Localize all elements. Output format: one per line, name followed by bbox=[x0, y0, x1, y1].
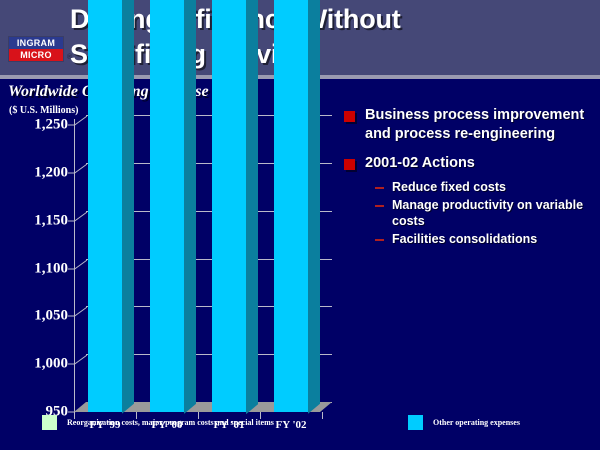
chart-legend: Reorganization costs, major-program cost… bbox=[0, 410, 600, 440]
legend-item: Reorganization costs, major-program cost… bbox=[42, 415, 274, 430]
logo-top-text: INGRAM bbox=[9, 37, 63, 49]
bar-segment-side bbox=[246, 0, 259, 414]
bullet-text: Business process improvement and process… bbox=[365, 106, 596, 144]
sub-bullet-dash-icon bbox=[375, 239, 384, 241]
bar-segment-side bbox=[184, 0, 197, 414]
bullet-marker-icon bbox=[344, 159, 355, 170]
sub-bullet-dash-icon bbox=[375, 205, 384, 207]
slide-title-line-2: Sacrificing Service bbox=[70, 37, 590, 72]
ingram-micro-logo: INGRAM MICRO bbox=[8, 36, 64, 62]
y-tick-mark bbox=[68, 172, 74, 173]
sub-bullet-dash-icon bbox=[375, 187, 384, 189]
logo-bottom-text: MICRO bbox=[9, 49, 63, 61]
y-axis-tick-label: 1,100 bbox=[6, 260, 68, 277]
bar-segment-side bbox=[122, 0, 135, 414]
sub-bullet-text: Manage productivity on variable costs bbox=[392, 197, 596, 229]
y-axis-tick-label: 1,200 bbox=[6, 164, 68, 181]
y-axis-tick-label: 1,000 bbox=[6, 356, 68, 373]
bullet-list: Business process improvement and process… bbox=[344, 106, 596, 249]
y-tick-mark bbox=[68, 364, 74, 365]
slide-root: INGRAM MICRO ® Driving Efficiency Withou… bbox=[0, 0, 600, 450]
slide-title: Driving Efficiency Without Sacrificing S… bbox=[70, 2, 590, 72]
y-tick-mark bbox=[68, 316, 74, 317]
y-tick-mark bbox=[68, 125, 74, 126]
y-tick-mark bbox=[68, 220, 74, 221]
bar-segment-front bbox=[88, 0, 122, 412]
sub-bullet-item: Facilities consolidations bbox=[375, 231, 596, 247]
bullet-item: 2001-02 Actions bbox=[344, 154, 596, 173]
legend-label: Other operating expenses bbox=[433, 418, 520, 427]
sub-bullet-text: Facilities consolidations bbox=[392, 231, 537, 247]
legend-swatch bbox=[42, 415, 57, 430]
sub-bullet-text: Reduce fixed costs bbox=[392, 179, 506, 195]
sub-bullet-list: Reduce fixed costsManage productivity on… bbox=[375, 179, 596, 247]
bar-segment-front bbox=[212, 0, 246, 412]
legend-label: Reorganization costs, major-program cost… bbox=[67, 418, 274, 427]
sub-bullet-item: Manage productivity on variable costs bbox=[375, 197, 596, 229]
y-axis-tick-label: 1,150 bbox=[6, 212, 68, 229]
y-axis-tick-label: 1,050 bbox=[6, 308, 68, 325]
y-tick-mark bbox=[68, 268, 74, 269]
bullet-item: Business process improvement and process… bbox=[344, 106, 596, 144]
legend-swatch bbox=[408, 415, 423, 430]
y-axis-tick-label: 1,250 bbox=[6, 117, 68, 134]
bar-segment-front bbox=[150, 0, 184, 412]
bar-segment-side bbox=[308, 0, 321, 414]
bullet-text: 2001-02 Actions bbox=[365, 154, 475, 173]
chart-panel: Worldwide Operating Expense ($ U.S. Mill… bbox=[0, 79, 340, 409]
bullet-marker-icon bbox=[344, 111, 355, 122]
bar-segment-front bbox=[274, 0, 308, 412]
chart-plot-area: 1,1361,2031,2371,182 1,2501,2001,1501,10… bbox=[0, 117, 340, 409]
chart-subtitle: ($ U.S. Millions) bbox=[9, 105, 78, 116]
sub-bullet-item: Reduce fixed costs bbox=[375, 179, 596, 195]
slide-title-line-1: Driving Efficiency Without bbox=[70, 2, 590, 37]
legend-item: Other operating expenses bbox=[408, 415, 520, 430]
